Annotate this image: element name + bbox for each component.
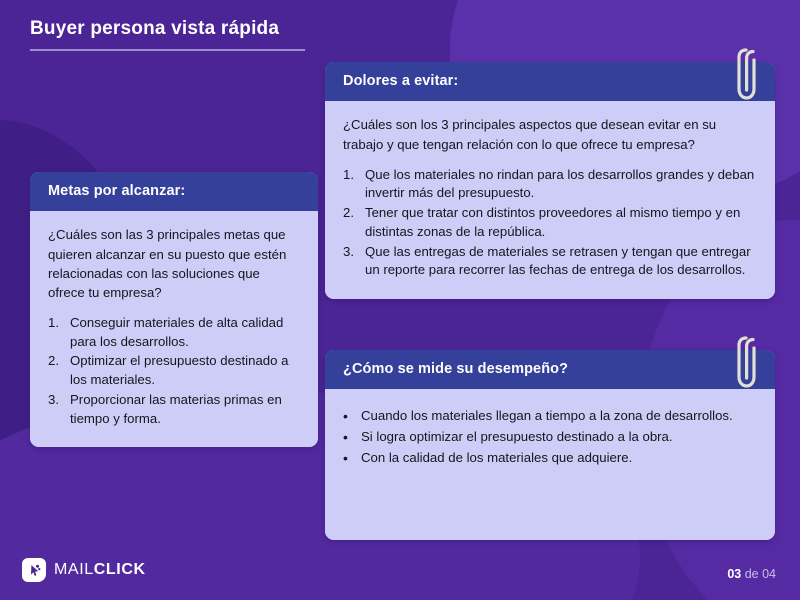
card-header: ¿Cómo se mide su desempeño? — [325, 350, 775, 389]
card-intro-text: ¿Cuáles son las 3 principales metas que … — [48, 225, 300, 302]
list-item: 2. Optimizar el presupuesto destinado a … — [48, 352, 300, 389]
page-indicator: 03 de 04 — [727, 568, 776, 581]
list-item-text: Optimizar el presupuesto destinado a los… — [70, 353, 288, 387]
list-marker: 3. — [343, 243, 362, 262]
list-marker: 3. — [48, 391, 67, 410]
page-separator: de — [741, 567, 762, 581]
list-item: 1. Que los materiales no rindan para los… — [343, 166, 757, 203]
card-list: 1. Que los materiales no rindan para los… — [343, 166, 757, 280]
list-item: 3. Proporcionar las materias primas en t… — [48, 391, 300, 428]
card-header-label: Dolores a evitar: — [343, 73, 759, 90]
page-title: Buyer persona vista rápida — [30, 18, 450, 41]
list-marker: • — [343, 407, 357, 427]
card-inner: Metas por alcanzar: ¿Cuáles son las 3 pr… — [30, 172, 318, 447]
card-header-label: ¿Cómo se mide su desempeño? — [343, 361, 759, 378]
list-item-text: Tener que tratar con distintos proveedor… — [365, 205, 740, 239]
card-body: ¿Cuáles son las 3 principales metas que … — [30, 211, 318, 447]
brand-logo: MAILCLICK — [22, 558, 146, 582]
list-marker: 1. — [48, 314, 67, 333]
card-body: • Cuando los materiales llegan a tiempo … — [325, 389, 775, 539]
paperclip-icon — [733, 44, 759, 106]
title-underline-rule — [30, 49, 305, 51]
cursor-badge-icon — [22, 558, 46, 582]
list-item-text: Proporcionar las materias primas en tiem… — [70, 392, 282, 426]
card-como-se-mide-su-desempeno: ¿Cómo se mide su desempeño? • Cuando los… — [325, 350, 775, 540]
card-list: • Cuando los materiales llegan a tiempo … — [343, 407, 757, 467]
list-item: • Cuando los materiales llegan a tiempo … — [343, 407, 757, 426]
card-intro-text: ¿Cuáles son los 3 principales aspectos q… — [343, 115, 757, 153]
logo-text-mail: MAIL — [54, 561, 94, 578]
slide-header: Buyer persona vista rápida — [30, 18, 450, 51]
list-item: 3. Que las entregas de materiales se ret… — [343, 243, 757, 280]
list-item-text: Que los materiales no rindan para los de… — [365, 167, 754, 201]
page-number-total: 04 — [762, 567, 776, 581]
list-marker: • — [343, 428, 357, 448]
list-item: 2. Tener que tratar con distintos provee… — [343, 204, 757, 241]
page-number-current: 03 — [727, 567, 741, 581]
logo-wordmark: MAILCLICK — [54, 562, 146, 578]
card-metas-por-alcanzar: Metas por alcanzar: ¿Cuáles son las 3 pr… — [30, 172, 318, 447]
card-body: ¿Cuáles son los 3 principales aspectos q… — [325, 101, 775, 299]
list-marker: 2. — [48, 352, 67, 371]
card-list: 1. Conseguir materiales de alta calidad … — [48, 314, 300, 428]
list-item-text: Si logra optimizar el presupuesto destin… — [361, 429, 673, 444]
card-header-label: Metas por alcanzar: — [48, 183, 302, 200]
list-marker: 2. — [343, 204, 362, 223]
list-item-text: Con la calidad de los materiales que adq… — [361, 450, 632, 465]
card-header: Dolores a evitar: — [325, 62, 775, 101]
list-item-text: Cuando los materiales llegan a tiempo a … — [361, 408, 733, 423]
card-inner: Dolores a evitar: ¿Cuáles son los 3 prin… — [325, 62, 775, 299]
paperclip-icon — [733, 332, 759, 394]
card-dolores-a-evitar: Dolores a evitar: ¿Cuáles son los 3 prin… — [325, 62, 775, 299]
list-item-text: Conseguir materiales de alta calidad par… — [70, 315, 283, 349]
list-item: 1. Conseguir materiales de alta calidad … — [48, 314, 300, 351]
slide-canvas: Buyer persona vista rápida Metas por alc… — [0, 0, 800, 600]
list-item: • Si logra optimizar el presupuesto dest… — [343, 428, 757, 447]
list-item-text: Que las entregas de materiales se retras… — [365, 244, 751, 278]
list-marker: 1. — [343, 166, 362, 185]
card-inner: ¿Cómo se mide su desempeño? • Cuando los… — [325, 350, 775, 540]
list-marker: • — [343, 449, 357, 469]
logo-text-click: CLICK — [94, 561, 146, 578]
list-item: • Con la calidad de los materiales que a… — [343, 449, 757, 468]
card-header: Metas por alcanzar: — [30, 172, 318, 211]
